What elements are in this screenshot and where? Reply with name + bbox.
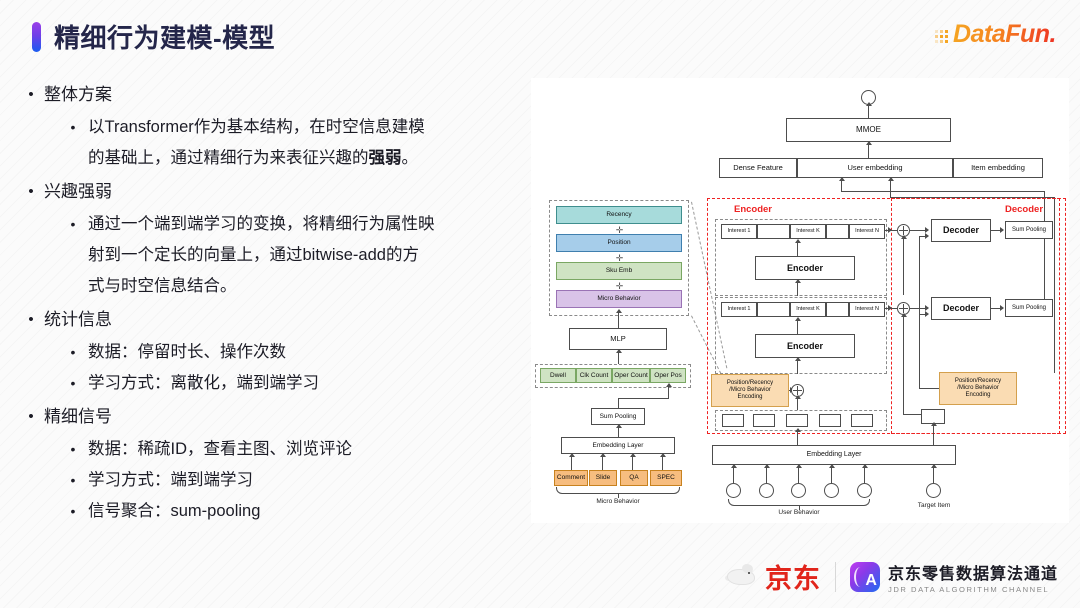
target-node-circle	[926, 483, 941, 498]
arrow-icon	[866, 141, 872, 145]
connector-line	[797, 320, 798, 334]
title-accent-bar	[32, 22, 41, 52]
jdr-title-en: JDR DATA ALGORITHM CHANNEL	[888, 585, 1058, 594]
behavior-node-circle	[791, 483, 806, 498]
bullet-dot-icon: •	[58, 209, 88, 302]
connector-line	[733, 467, 734, 483]
connector-line	[798, 467, 799, 483]
bullet-dot-icon: •	[58, 112, 88, 174]
connector-line	[618, 352, 619, 364]
encoder-position-encoding: Position/Recency /Micro Behavior Encodin…	[711, 374, 789, 407]
decoder-sum-pooling-2: Sum Pooling	[1005, 299, 1053, 317]
jd-logo: 京东	[725, 557, 821, 596]
arrow-icon	[600, 453, 606, 457]
arrow-icon	[795, 357, 801, 361]
bullet-group: • 兴趣强弱 • 通过一个端到端学习的变换，将精细行为属性映 射到一个定长的向量…	[18, 177, 528, 302]
connector-line	[933, 467, 934, 483]
interest-cell: Interest K	[790, 224, 826, 239]
arrow-icon	[795, 239, 801, 243]
arrow-icon	[862, 464, 868, 468]
pe-line3: Encoding	[737, 394, 762, 401]
connector-line	[903, 414, 921, 415]
interest-cell: Interest N	[849, 302, 885, 317]
bullet-level2-text: 信号聚合：sum-pooling	[88, 496, 260, 527]
left-box-sum-pooling: Sum Pooling	[591, 408, 645, 425]
jdr-mark-icon: A	[850, 562, 880, 592]
connector-line	[797, 242, 798, 256]
left-box-embedding-layer: Embedding Layer	[561, 437, 675, 454]
datafun-wordmark: DataFun.	[953, 20, 1056, 49]
right-box-embedding-layer: Embedding Layer	[712, 445, 956, 465]
pe-line2: /Micro Behavior	[957, 385, 999, 392]
arrow-icon	[1000, 227, 1004, 233]
bullet-dot-icon: •	[18, 305, 44, 335]
arrow-icon	[925, 311, 929, 317]
footer-logos: 京东 A 京东零售数据算法通道 JDR DATA ALGORITHM CHANN…	[725, 557, 1058, 596]
arrow-icon	[901, 235, 907, 239]
left-box-recency: Recency	[556, 206, 682, 224]
decoder-sum-pooling-1: Sum Pooling	[1005, 221, 1053, 239]
bullet-level2: • 以Transformer作为基本结构，在时空信息建模 的基础上，通过精细行为…	[18, 112, 528, 174]
bullet-level2-text: 数据：停留时长、操作次数	[88, 337, 286, 368]
bullet-level2: • 学习方式：离散化，端到端学习	[18, 368, 528, 399]
decoder-region-label: Decoder	[1005, 204, 1043, 215]
connector-line	[668, 386, 669, 398]
token-slot	[753, 414, 775, 427]
footer-divider	[835, 562, 836, 592]
left-box-sku-emb: Sku Emb	[556, 262, 682, 280]
bullet-level2: • 数据：稀疏ID，查看主图、浏览评论	[18, 434, 528, 465]
left-token-spec: SPEC	[650, 470, 682, 486]
connector-line	[618, 427, 619, 437]
bullet-level1-text: 整体方案	[44, 80, 112, 110]
interest-cell: Interest 1	[721, 224, 757, 239]
left-box-mlp: MLP	[569, 328, 667, 350]
arrow-icon	[931, 422, 937, 426]
decoder-block-2: Decoder	[931, 297, 991, 320]
bullet-dot-icon: •	[58, 496, 88, 527]
token-slot	[819, 414, 841, 427]
architecture-diagram: Recency ✛ Position ✛ Sku Emb ✛ Micro Beh…	[531, 78, 1069, 523]
bullet-level2: • 通过一个端到端学习的变换，将精细行为属性映 射到一个定长的向量上，通过bit…	[18, 209, 528, 302]
bullet-level1-text: 精细信号	[44, 402, 112, 432]
arrow-icon	[616, 309, 622, 313]
arrow-icon	[795, 428, 801, 432]
arrow-icon	[795, 279, 801, 283]
connector-line	[841, 191, 1044, 192]
interest-cell: Interest K	[790, 302, 826, 317]
right-box-mmoe: MMOE	[786, 118, 951, 142]
bullet-level2-text: 通过一个端到端学习的变换，将精细行为属性映 射到一个定长的向量上，通过bitwi…	[88, 209, 435, 302]
bullet-dot-icon: •	[58, 337, 88, 368]
connector-line	[797, 431, 798, 445]
encoder-block-label: Encoder	[755, 334, 855, 358]
bullet-level2: • 数据：停留时长、操作次数	[18, 337, 528, 368]
left-token-comment: Comment	[554, 470, 588, 486]
connector-line	[618, 312, 619, 328]
title-text: 精细行为建模-模型	[54, 18, 275, 55]
page-title: 精细行为建模-模型	[32, 18, 275, 55]
arrow-icon	[630, 453, 636, 457]
arrow-icon	[569, 453, 575, 457]
brace-icon	[728, 499, 870, 506]
jdr-logo: A 京东零售数据算法通道 JDR DATA ALGORITHM CHANNEL	[850, 560, 1058, 594]
bullet-content: • 整体方案 • 以Transformer作为基本结构，在时空信息建模 的基础上…	[18, 80, 528, 530]
bullet-level2-text: 以Transformer作为基本结构，在时空信息建模 的基础上，通过精细行为来表…	[88, 112, 425, 174]
bullet-level1: • 统计信息	[18, 305, 528, 335]
arrow-icon	[660, 453, 666, 457]
encoder-region-label: Encoder	[734, 204, 772, 215]
bullet-level1-text: 兴趣强弱	[44, 177, 112, 207]
token-slot	[786, 414, 808, 427]
bullet-level1: • 精细信号	[18, 402, 528, 432]
interest-cell	[757, 224, 790, 239]
bullet-level1: • 整体方案	[18, 80, 528, 110]
connector-line	[903, 315, 904, 415]
bullet-dot-icon: •	[18, 80, 44, 110]
connector-line	[571, 456, 572, 470]
left-caption-micro-behavior: Micro Behavior	[568, 498, 668, 505]
bullet-dot-icon: •	[58, 465, 88, 496]
bullet-level2-text: 学习方式：端到端学习	[88, 465, 253, 496]
connector-line	[662, 456, 663, 470]
behavior-node-circle	[759, 483, 774, 498]
connector-line	[766, 467, 767, 483]
pe-line1: Position/Recency	[727, 380, 773, 387]
arrow-icon	[925, 233, 929, 239]
bullet-level2: • 信号聚合：sum-pooling	[18, 496, 528, 527]
interest-cell: Interest 1	[721, 302, 757, 317]
connector-line	[797, 398, 798, 410]
interest-cell	[757, 302, 790, 317]
bullet-dot-icon: •	[18, 177, 44, 207]
jd-dog-icon	[725, 564, 759, 590]
bullet-dot-icon: •	[58, 368, 88, 399]
connector-line	[831, 467, 832, 483]
interest-cell	[826, 302, 849, 317]
target-item-caption: Target Item	[884, 502, 984, 509]
connector-line	[632, 456, 633, 470]
arrow-icon	[795, 395, 801, 399]
bullet-level1: • 兴趣强弱	[18, 177, 528, 207]
left-stat-oper-pos: Oper Pos	[650, 368, 686, 383]
bullet-level2-text: 数据：稀疏ID，查看主图、浏览评论	[88, 434, 352, 465]
connector-line	[868, 105, 869, 118]
connector-line	[868, 144, 869, 158]
arrow-icon	[616, 349, 622, 353]
bullet-level2: • 学习方式：端到端学习	[18, 465, 528, 496]
slide-root: 精细行为建模-模型 DataFun. • 整体方案 • 以Transformer…	[0, 0, 1080, 608]
arrow-icon	[731, 464, 737, 468]
left-box-micro-behavior: Micro Behavior	[556, 290, 682, 308]
arrow-icon	[795, 317, 801, 321]
arrow-icon	[764, 464, 770, 468]
arrow-icon	[1000, 305, 1004, 311]
arrow-icon	[839, 177, 845, 181]
left-box-position: Position	[556, 234, 682, 252]
left-token-qa: QA	[620, 470, 648, 486]
jd-wordmark: 京东	[765, 557, 821, 596]
arrow-icon	[888, 177, 894, 181]
behavior-node-circle	[726, 483, 741, 498]
brace-icon	[556, 487, 680, 494]
connector-line	[797, 360, 798, 374]
bullet-group: • 精细信号 • 数据：稀疏ID，查看主图、浏览评论 • 学习方式：端到端学习 …	[18, 402, 528, 527]
token-slot	[851, 414, 873, 427]
decoder-position-encoding: Position/Recency /Micro Behavior Encodin…	[939, 372, 1017, 405]
arrow-icon	[829, 464, 835, 468]
connector-line	[933, 424, 934, 445]
connector-line	[618, 398, 619, 408]
bullet-level1-text: 统计信息	[44, 305, 112, 335]
bullet-dot-icon: •	[18, 402, 44, 432]
interest-cell: Interest N	[849, 224, 885, 239]
connector-line	[919, 388, 941, 389]
behavior-node-circle	[857, 483, 872, 498]
connector-line	[890, 180, 891, 198]
connector-line	[919, 236, 920, 388]
right-box-item-embedding: Item embedding	[953, 158, 1043, 178]
datafun-logo: DataFun.	[935, 20, 1056, 49]
datafun-dots-icon	[935, 30, 948, 43]
right-box-user-embedding: User embedding	[797, 158, 953, 178]
pe-line1: Position/Recency	[955, 378, 1001, 385]
left-stat-clk-count: Clk Count	[576, 368, 612, 383]
bullet-dot-icon: •	[58, 434, 88, 465]
left-stat-oper-count: Oper Count	[612, 368, 650, 383]
arrow-icon	[901, 313, 907, 317]
connector-line	[797, 282, 798, 296]
right-box-dense-feature: Dense Feature	[719, 158, 797, 178]
decoder-block-1: Decoder	[931, 219, 991, 242]
token-slot	[722, 414, 744, 427]
connector-line	[602, 456, 603, 470]
bullet-group: • 统计信息 • 数据：停留时长、操作次数 • 学习方式：离散化，端到端学习	[18, 305, 528, 399]
pe-line3: Encoding	[965, 392, 990, 399]
arrow-icon	[616, 424, 622, 428]
arrow-icon	[931, 464, 937, 468]
bullet-group: • 整体方案 • 以Transformer作为基本结构，在时空信息建模 的基础上…	[18, 80, 528, 174]
connector-line	[618, 398, 669, 399]
arrow-icon	[796, 464, 802, 468]
arrow-icon	[866, 102, 872, 106]
arrow-icon	[888, 227, 892, 233]
pe-line2: /Micro Behavior	[729, 387, 771, 394]
jdr-title-cn: 京东零售数据算法通道	[888, 560, 1058, 584]
encoder-block-label: Encoder	[755, 256, 855, 280]
arrow-icon	[666, 383, 672, 387]
user-behavior-caption: User Behavior	[749, 509, 849, 516]
interest-cell	[826, 224, 849, 239]
behavior-node-circle	[824, 483, 839, 498]
arrow-icon	[888, 305, 892, 311]
connector-line	[903, 237, 904, 295]
bullet-level2-text: 学习方式：离散化，端到端学习	[88, 368, 319, 399]
left-stat-dwell: Dwell	[540, 368, 576, 383]
left-token-slide: Slide	[589, 470, 617, 486]
connector-line	[864, 467, 865, 483]
